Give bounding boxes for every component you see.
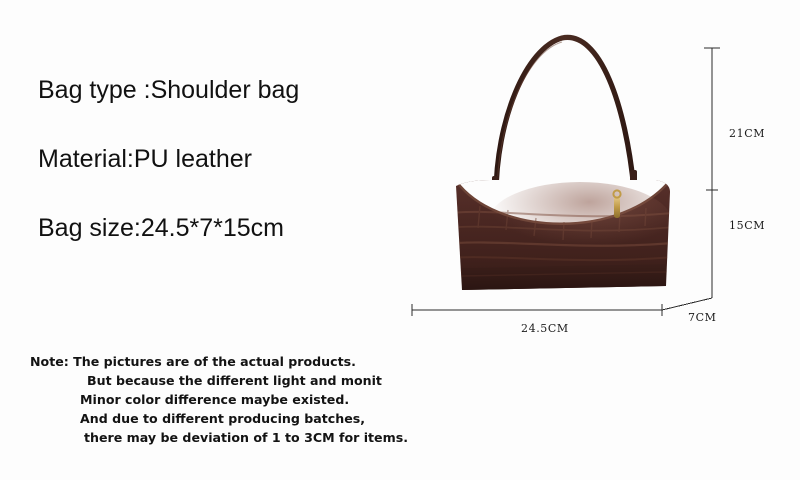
zipper-pull-icon	[614, 196, 620, 218]
bag-strap	[496, 37, 634, 196]
dimension-label-height-upper: 21CM	[729, 127, 765, 140]
product-photo	[404, 0, 800, 480]
bag-strap-group	[496, 37, 634, 196]
dimension-label-height-lower: 15CM	[729, 219, 765, 232]
bag-body-group	[444, 168, 684, 290]
bag-sheen	[488, 182, 672, 262]
spec-material: Material:PU leather	[38, 145, 252, 174]
note-line: there may be deviation of 1 to 3CM for i…	[30, 428, 450, 447]
dimension-label-depth: 7CM	[688, 311, 716, 324]
note-block: Note: The pictures are of the actual pro…	[30, 352, 450, 447]
note-line: Minor color difference maybe existed.	[30, 390, 450, 409]
note-line: And due to different producing batches,	[30, 409, 450, 428]
dimension-label-width: 24.5CM	[521, 322, 569, 335]
spec-bag-type: Bag type :Shoulder bag	[38, 76, 299, 105]
bag-bottom-band	[462, 264, 666, 290]
spec-bag-size: Bag size:24.5*7*15cm	[38, 214, 284, 243]
shoulder-bag-illustration	[404, 0, 800, 480]
note-line: But because the different light and moni…	[30, 371, 450, 390]
product-detail-canvas: Bag type :Shoulder bag Material:PU leath…	[0, 0, 800, 480]
note-line: Note: The pictures are of the actual pro…	[30, 352, 450, 371]
